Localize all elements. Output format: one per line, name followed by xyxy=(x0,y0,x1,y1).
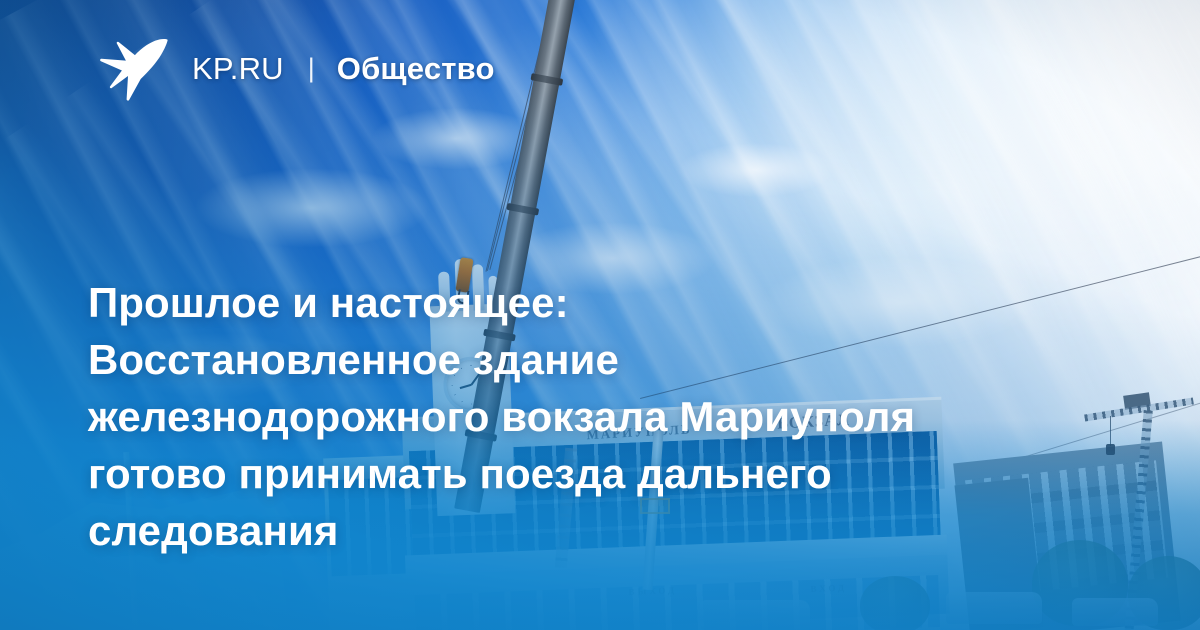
social-share-card: МАРИУПОЛЬ ВОКЗАЛ ВЫХОД ВХОД xyxy=(0,0,1200,630)
header-separator: | xyxy=(308,53,315,84)
article-headline: Прошлое и настоящее: Восстановленное зда… xyxy=(88,274,1098,559)
card-header: KP.RU | Общество xyxy=(96,36,495,102)
rubric-label[interactable]: Общество xyxy=(337,51,495,87)
swallow-bird-logo-icon[interactable] xyxy=(96,36,168,102)
brand-label[interactable]: KP.RU xyxy=(192,51,284,87)
